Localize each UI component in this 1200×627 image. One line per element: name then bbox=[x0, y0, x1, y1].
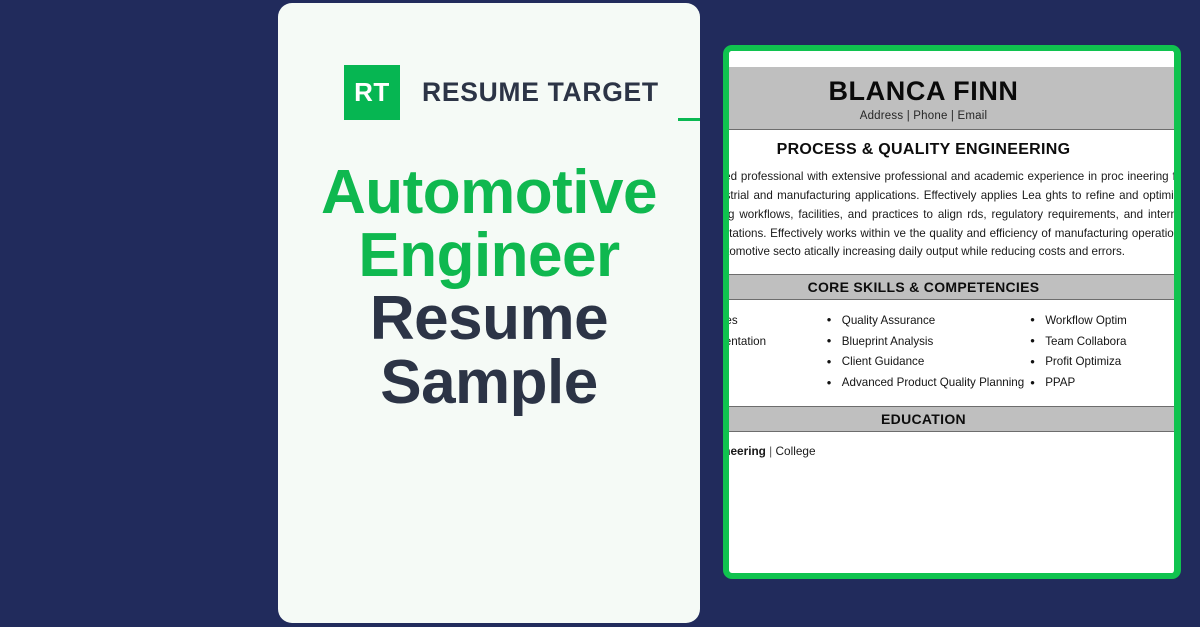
logo-wordmark-text: RESUME TARGET bbox=[422, 77, 659, 108]
candidate-name: BLANCA FINN bbox=[723, 77, 1181, 105]
education-separator: | bbox=[766, 444, 776, 458]
skill-item: Workflow Optim bbox=[1028, 310, 1181, 331]
education-section: anical Engineering | College mpleted: bbox=[723, 432, 1181, 504]
education-entry: anical Engineering | College bbox=[723, 444, 1181, 458]
skill-item: PPAP bbox=[1028, 373, 1181, 394]
resume-summary-paragraph: esults-oriented professional with extens… bbox=[723, 168, 1181, 274]
promo-card: RT RESUME TARGET Automotive Engineer Res… bbox=[278, 3, 700, 623]
education-degree: anical Engineering bbox=[723, 444, 766, 458]
skill-item: Advanced Product Quality Planning bbox=[825, 373, 1024, 394]
logo-underline-divider bbox=[678, 118, 700, 121]
skill-item: Profit Optimiza bbox=[1028, 352, 1181, 373]
skill-item: ring Processes bbox=[723, 310, 821, 331]
section-heading-education: EDUCATION bbox=[723, 406, 1181, 432]
resume-header: BLANCA FINN Address | Phone | Email bbox=[723, 67, 1181, 130]
page-title-line-1: Automotive bbox=[296, 161, 682, 224]
brand-logo: RT RESUME TARGET bbox=[344, 65, 659, 120]
core-skills-grid: ring Processes gma Implementation velopm… bbox=[723, 300, 1181, 405]
logo-wordmark: RESUME TARGET bbox=[400, 65, 659, 120]
page-title-line-3: Resume bbox=[296, 287, 682, 350]
page-title-line-4: Sample bbox=[296, 351, 682, 414]
skill-item: gma Implementation bbox=[723, 331, 821, 352]
skill-item: velopment bbox=[723, 352, 821, 373]
skill-item: Blueprint Analysis bbox=[825, 331, 1024, 352]
skills-column-1: ring Processes gma Implementation velopm… bbox=[723, 310, 821, 393]
skill-item: Client Guidance bbox=[825, 352, 1024, 373]
resume-document: BLANCA FINN Address | Phone | Email PROC… bbox=[723, 51, 1181, 504]
skills-column-2: Quality Assurance Blueprint Analysis Cli… bbox=[825, 310, 1024, 393]
logo-badge-text: RT bbox=[354, 77, 390, 108]
skills-column-3: Workflow Optim Team Collabora Profit Opt… bbox=[1028, 310, 1181, 393]
resume-preview-frame[interactable]: BLANCA FINN Address | Phone | Email PROC… bbox=[723, 45, 1181, 579]
page-title-line-2: Engineer bbox=[296, 224, 682, 287]
education-note: mpleted: bbox=[723, 474, 1181, 488]
skill-item: Team Collabora bbox=[1028, 331, 1181, 352]
skill-item: Quality Assurance bbox=[825, 310, 1024, 331]
logo-badge-icon: RT bbox=[344, 65, 400, 120]
section-heading-core-skills: CORE SKILLS & COMPETENCIES bbox=[723, 274, 1181, 300]
education-institution: College bbox=[776, 444, 816, 458]
page-title: Automotive Engineer Resume Sample bbox=[296, 161, 682, 414]
resume-job-title: PROCESS & QUALITY ENGINEERING bbox=[723, 130, 1181, 168]
document-top-margin bbox=[723, 51, 1181, 67]
contact-line: Address | Phone | Email bbox=[723, 110, 1181, 122]
